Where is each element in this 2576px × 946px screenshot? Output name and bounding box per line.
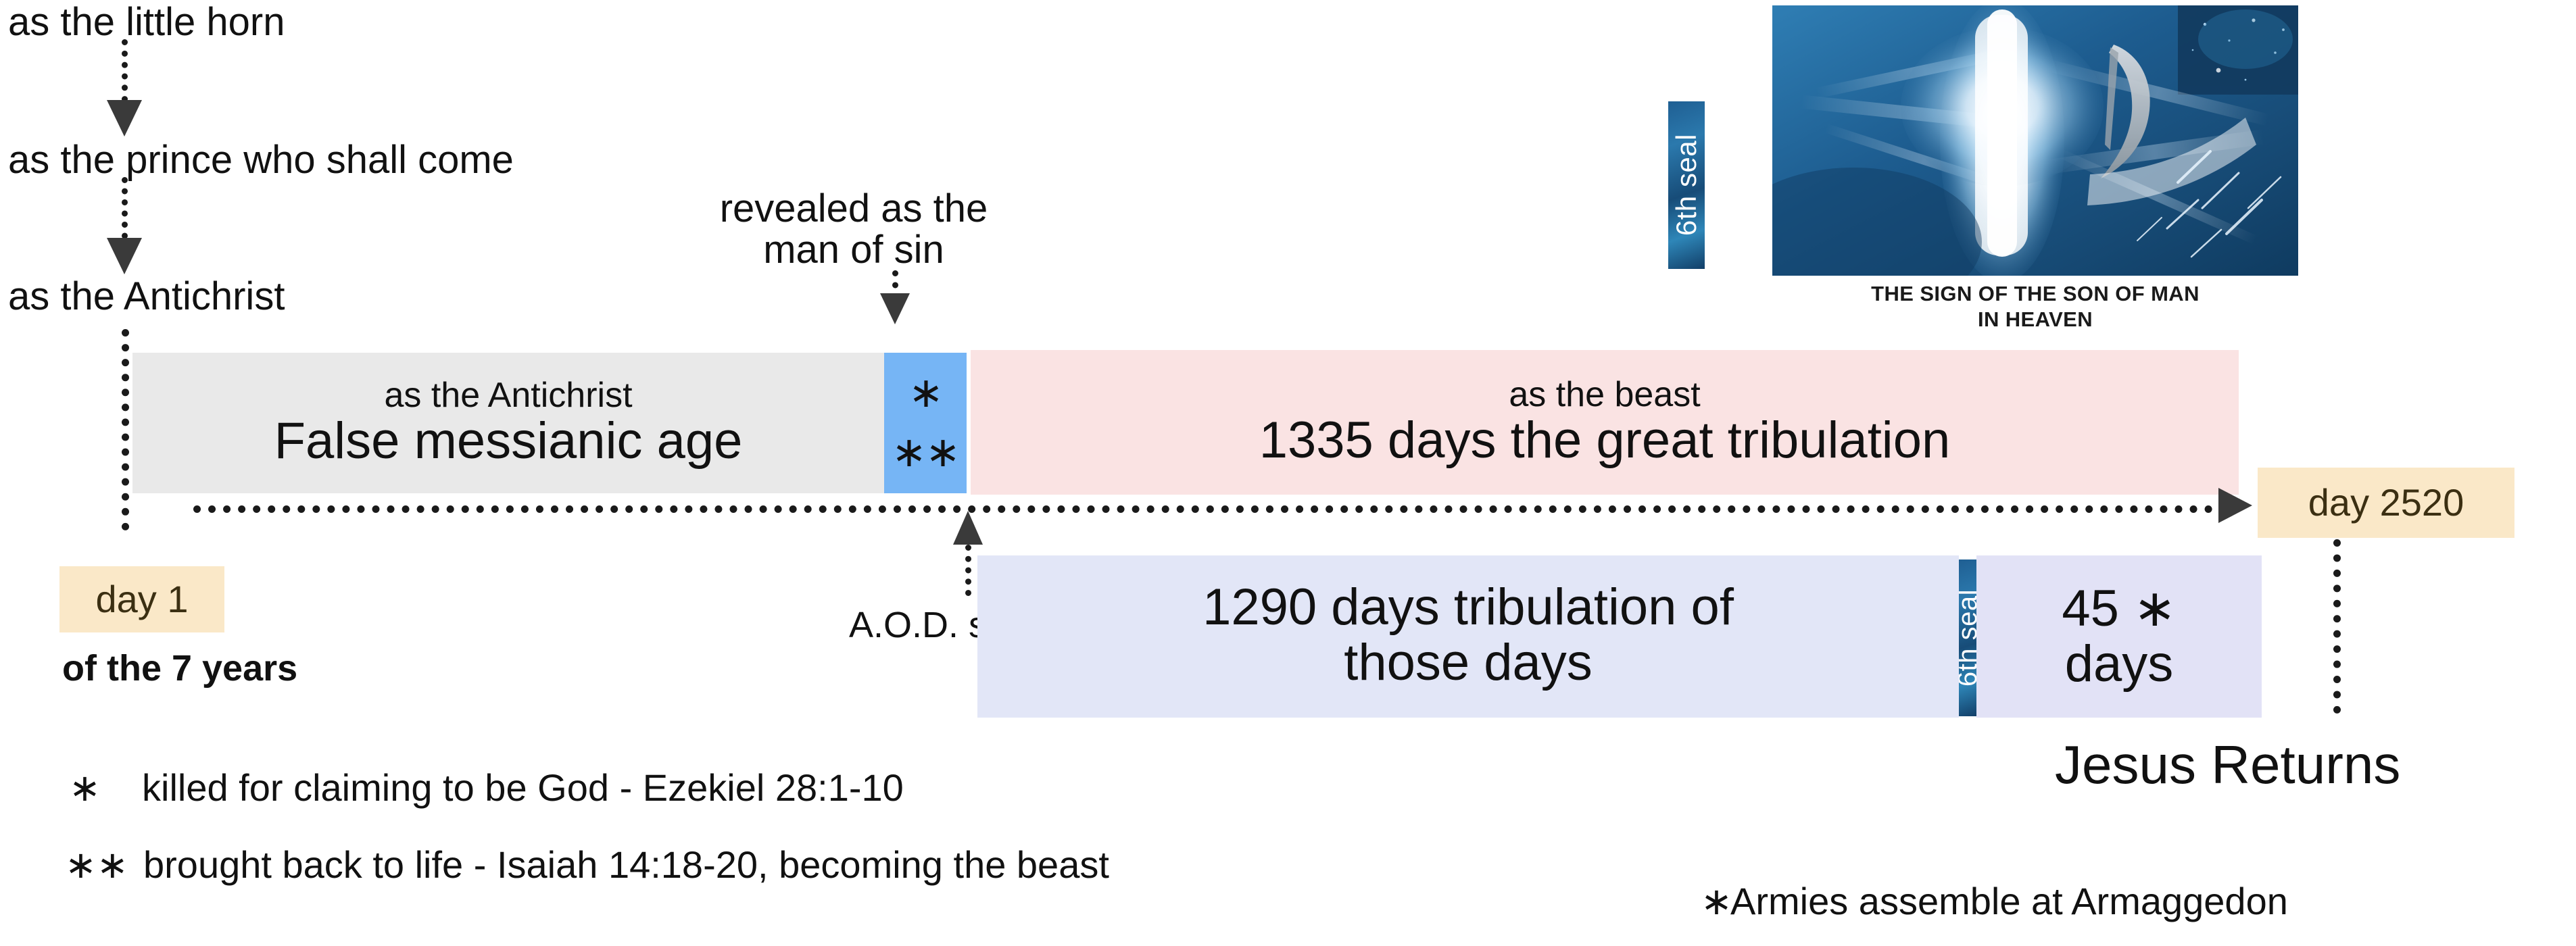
- footnote-2-text: brought back to life - Isaiah 14:18-20, …: [143, 846, 1109, 884]
- segment-1290-line2: those days: [1344, 635, 1593, 691]
- lower-6th-seal-strip: 6th seal: [1959, 559, 1976, 716]
- footnote-2-marker: ∗∗: [65, 846, 128, 884]
- segment-gray-title: False messianic age: [274, 414, 743, 469]
- progression-label-prince: as the prince who shall come: [8, 141, 514, 180]
- progression-label-little-horn: as the little horn: [8, 3, 285, 42]
- lower-6th-seal-label: 6th seal: [1959, 589, 1976, 687]
- footnote-armies-text: Armies assemble at Armaggedon: [1730, 882, 2288, 920]
- sign-of-son-of-man-image: [1772, 5, 2298, 276]
- segment-blue-double-star: ∗∗: [892, 432, 959, 474]
- footnote-1-marker: ∗: [69, 769, 101, 807]
- segment-pink-title: 1335 days the great tribulation: [1259, 413, 1950, 468]
- progression-connector-2-arrow-icon: [107, 238, 142, 274]
- jesus-returns-label: Jesus Returns: [2055, 738, 2400, 792]
- aod-setup-connector-dots: [965, 545, 971, 596]
- footnote-armies-marker: ∗: [1701, 882, 1732, 920]
- hero-caption-line2: IN HEAVEN: [1772, 307, 2298, 332]
- jesus-returns-vertical-marker: [2333, 539, 2341, 714]
- revealed-callout-arrow-icon: [880, 293, 910, 324]
- segment-45-line1: 45 ∗: [2062, 581, 2176, 637]
- segment-1290-line1: 1290 days tribulation of: [1202, 580, 1734, 635]
- progression-label-antichrist: as the Antichrist: [8, 277, 285, 316]
- sign-of-son-of-man-artwork: [1772, 5, 2298, 276]
- aod-setup-arrow-icon: [953, 511, 983, 545]
- hero-caption-line1: THE SIGN OF THE SON OF MAN: [1772, 281, 2298, 307]
- revealed-callout-line1: revealed as the: [678, 188, 1029, 229]
- main-timeline-arrow-icon: [2218, 488, 2252, 523]
- progression-connector-1-arrow-icon: [107, 100, 142, 136]
- timeline-segment-death-resurrection: ∗ ∗∗: [884, 353, 967, 493]
- main-timeline-dotted-line: [193, 505, 2228, 513]
- segment-pink-subtitle: as the beast: [1509, 376, 1700, 414]
- hero-6th-seal-strip: 6th seal: [1668, 101, 1705, 269]
- day-1-vertical-marker: [122, 329, 129, 530]
- timeline-segment-1290-days: 1290 days tribulation of those days: [977, 555, 1959, 718]
- prophecy-timeline-diagram: as the little horn as the prince who sha…: [0, 0, 2576, 946]
- day-1-chip: day 1: [59, 566, 224, 632]
- timeline-segment-great-tribulation: as the beast 1335 days the great tribula…: [971, 350, 2239, 495]
- revealed-callout-line2: man of sin: [678, 229, 1029, 270]
- footnote-1-text: killed for claiming to be God - Ezekiel …: [142, 769, 904, 807]
- hero-6th-seal-label: 6th seal: [1670, 134, 1703, 236]
- day-2520-chip: day 2520: [2258, 468, 2514, 538]
- timeline-segment-false-messianic-age: as the Antichrist False messianic age: [132, 353, 884, 493]
- day-1-subtitle: of the 7 years: [62, 650, 297, 687]
- segment-45-line2: days: [2065, 637, 2174, 692]
- segment-blue-single-star: ∗: [908, 372, 942, 414]
- timeline-segment-45-days: 45 ∗ days: [1976, 555, 2262, 718]
- segment-gray-subtitle: as the Antichrist: [384, 377, 632, 414]
